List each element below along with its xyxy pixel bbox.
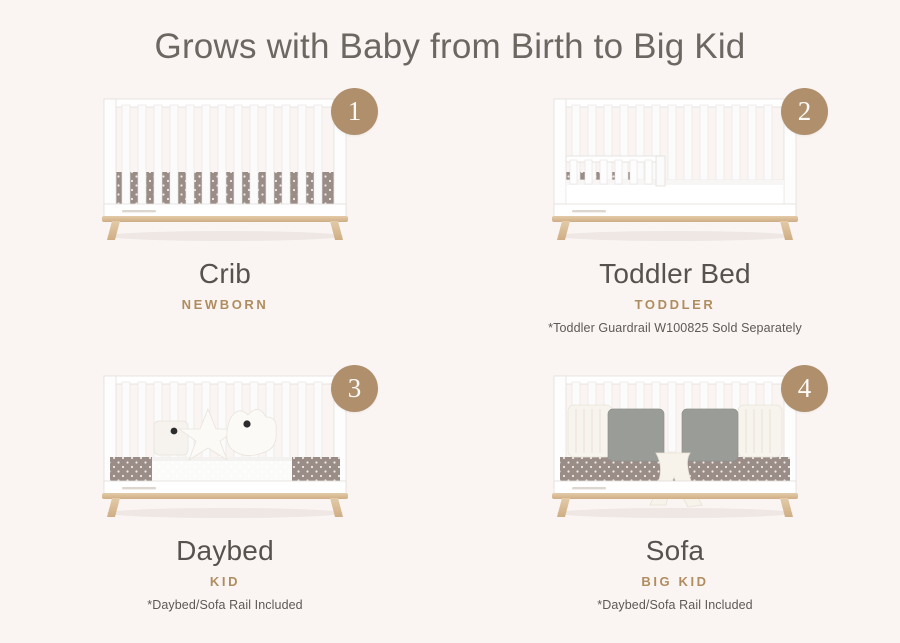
badge-3: 3 (331, 365, 378, 412)
stage-age-toddler-bed: TODDLER (450, 297, 900, 312)
stage-name-toddler-bed: Toddler Bed (450, 258, 900, 290)
stage-age-daybed: KID (0, 574, 450, 589)
crib-illustration: 1 (80, 84, 370, 244)
badge-2: 2 (781, 88, 828, 135)
page-title: Grows with Baby from Birth to Big Kid (0, 0, 900, 68)
sofa-illustration: 4 (530, 361, 820, 521)
stage-card-crib[interactable]: 1 Crib NEWBORN (0, 84, 450, 361)
stage-name-sofa: Sofa (450, 535, 900, 567)
conversion-chart-page: Grows with Baby from Birth to Big Kid (0, 0, 900, 643)
daybed-caption: Daybed KID *Daybed/Sofa Rail Included (0, 535, 450, 612)
stage-card-toddler-bed[interactable]: 2 Toddler Bed TODDLER *Toddler Guardrail… (450, 84, 900, 361)
stage-note-daybed: *Daybed/Sofa Rail Included (0, 598, 450, 612)
pillow-gray-right (682, 409, 738, 461)
pillow-cream-right (738, 405, 782, 457)
badge-1: 1 (331, 88, 378, 135)
crib-caption: Crib NEWBORN (0, 258, 450, 312)
stage-age-crib: NEWBORN (0, 297, 450, 312)
daybed-figure-svg (80, 361, 370, 521)
sofa-caption: Sofa BIG KID *Daybed/Sofa Rail Included (450, 535, 900, 612)
toddler-bed-illustration: 2 (530, 84, 820, 244)
toddler-bed-caption: Toddler Bed TODDLER *Toddler Guardrail W… (450, 258, 900, 335)
stage-note-sofa: *Daybed/Sofa Rail Included (450, 598, 900, 612)
stage-card-daybed[interactable]: 3 Daybed KID *Daybed/Sofa Rail Included (0, 361, 450, 638)
badge-4: 4 (781, 365, 828, 412)
stage-card-sofa[interactable]: 4 Sofa BIG KID *Daybed/Sofa Rail Include… (450, 361, 900, 638)
stage-age-sofa: BIG KID (450, 574, 900, 589)
toddler-bed-figure-svg (530, 84, 820, 244)
pillow-gray-left (608, 409, 664, 461)
crib-figure-svg (80, 84, 370, 244)
stage-grid: 1 Crib NEWBORN (0, 84, 900, 638)
stage-name-crib: Crib (0, 258, 450, 290)
sofa-figure-svg (530, 361, 820, 521)
pillow-cream-left (568, 405, 612, 457)
stage-name-daybed: Daybed (0, 535, 450, 567)
pillow-cushion-left (154, 421, 188, 455)
daybed-illustration: 3 (80, 361, 370, 521)
stage-note-toddler-bed: *Toddler Guardrail W100825 Sold Separate… (450, 321, 900, 335)
